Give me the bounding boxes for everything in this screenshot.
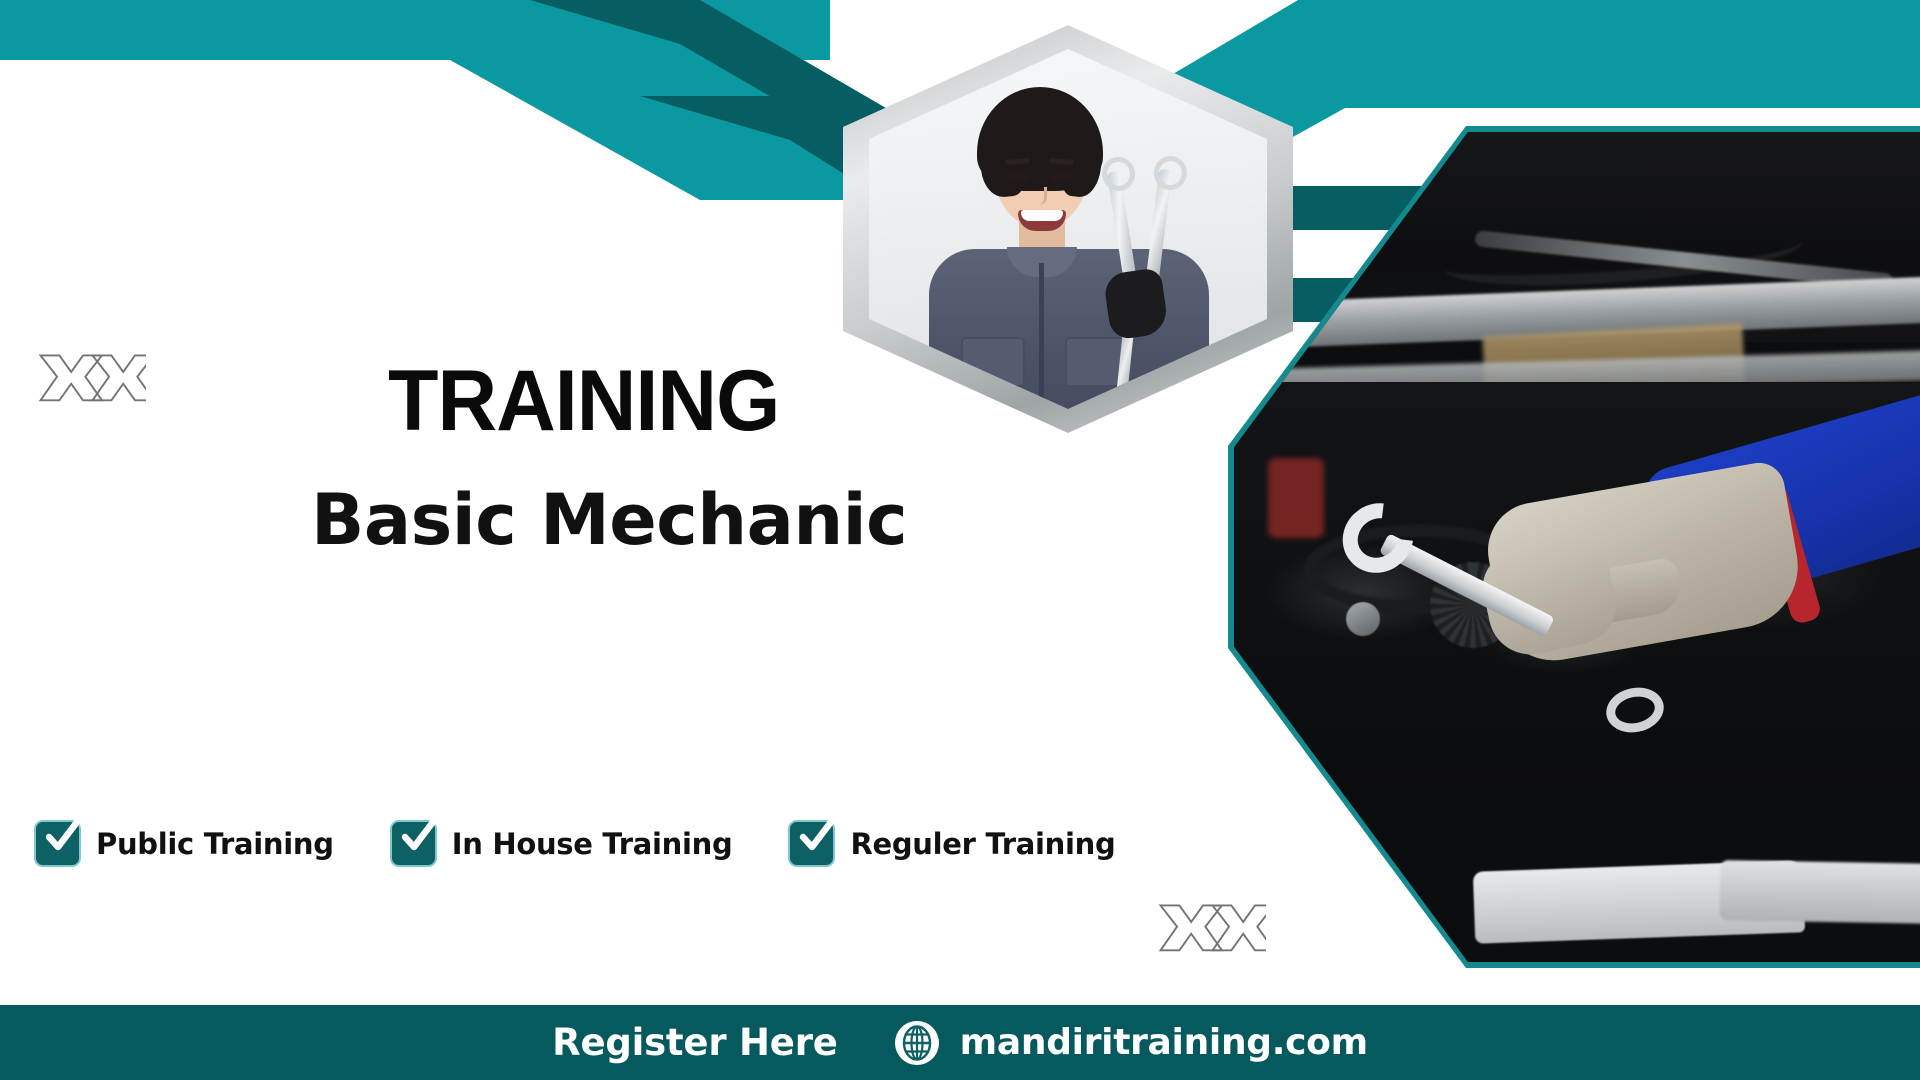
engine-hex-photo [1234, 132, 1920, 962]
training-type-list: Public Training In House Training Regule… [34, 820, 1115, 867]
engine-bolt [1346, 602, 1380, 636]
portrait-eye-right [1051, 173, 1073, 180]
feature-public-training[interactable]: Public Training [34, 820, 334, 867]
register-here-label[interactable]: Register Here [552, 1021, 838, 1064]
feature-label: Reguler Training [850, 827, 1115, 861]
website-link[interactable]: mandiritraining.com [894, 1020, 1368, 1066]
promo-banner: TRAINING Basic Mechanic Public Training [0, 0, 1920, 1080]
feature-label: Public Training [96, 827, 334, 861]
globe-icon [894, 1020, 940, 1066]
feature-label: In House Training [452, 827, 733, 861]
check-icon [390, 820, 437, 867]
x-cross-icon-bottom [1148, 890, 1266, 970]
portrait-hair [977, 87, 1103, 191]
engine-photo-hexagon [1228, 126, 1920, 968]
mechanic-portrait-hexagon [843, 25, 1293, 433]
chevron-band-light-topstrip [0, 0, 830, 60]
portrait-placket [1039, 263, 1044, 409]
x-cross-icon-top-left [28, 340, 146, 420]
check-icon [34, 820, 81, 867]
check-icon [788, 820, 835, 867]
page-subtitle: Basic Mechanic [311, 485, 907, 555]
portrait-eye-left [1007, 173, 1029, 180]
engine-white-panel-secondary [1719, 860, 1920, 924]
feature-reguler-training[interactable]: Reguler Training [788, 820, 1115, 867]
engine-red-component [1268, 458, 1324, 538]
feature-in-house-training[interactable]: In House Training [390, 820, 733, 867]
website-url: mandiritraining.com [960, 1022, 1368, 1063]
page-title: TRAINING [388, 358, 779, 444]
footer-bar: Register Here mandiritraining.com [0, 1005, 1920, 1080]
